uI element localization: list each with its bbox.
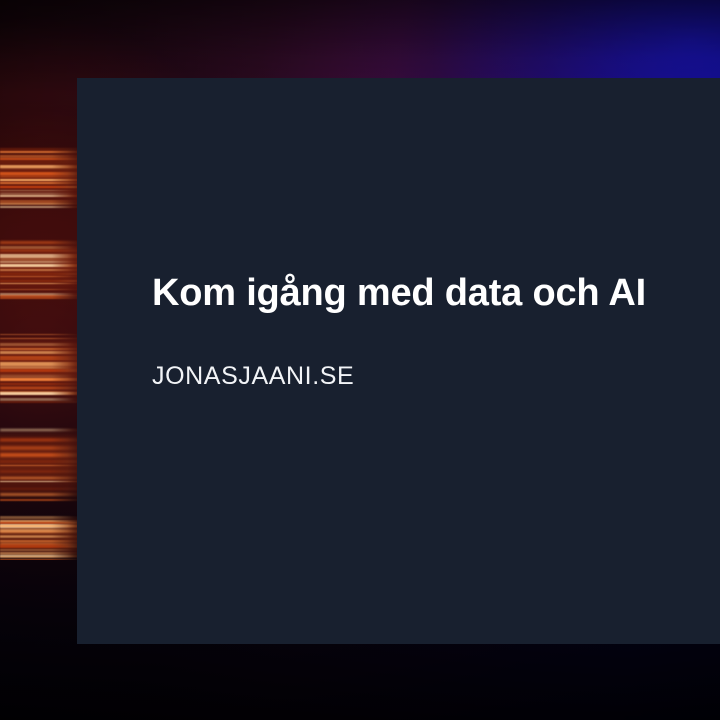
streak-line: [0, 264, 84, 267]
streak-line: [0, 338, 84, 339]
streak-line: [0, 536, 84, 537]
streak-line: [0, 392, 84, 395]
streak-line: [0, 383, 84, 385]
streak-line: [0, 200, 84, 204]
streak-line: [0, 522, 84, 524]
streak-line: [0, 186, 84, 188]
streak-line: [0, 359, 84, 360]
streak-line: [0, 499, 84, 501]
content-card: Kom igång med data och AI JONASJAANI.SE: [77, 78, 720, 644]
streak-line: [0, 254, 84, 258]
website-label: JONASJAANI.SE: [152, 363, 720, 391]
streak-line: [0, 481, 84, 482]
streak-line: [0, 387, 84, 389]
streak-line: [0, 206, 84, 208]
streak-band: [0, 516, 84, 560]
streak-line: [0, 542, 84, 546]
streak-band: [0, 146, 84, 208]
streak-line: [0, 429, 84, 431]
streak-line: [0, 356, 84, 359]
streak-line: [0, 293, 84, 296]
streak-line: [0, 351, 84, 354]
streak-line: [0, 369, 84, 372]
streak-line: [0, 269, 84, 271]
light-trail-streaks: [0, 120, 84, 560]
streak-line: [0, 280, 84, 282]
streak-line: [0, 348, 84, 350]
streak-line: [0, 477, 84, 479]
streak-line: [0, 378, 84, 381]
slide-canvas: Kom igång med data och AI JONASJAANI.SE: [0, 0, 720, 720]
streak-line: [0, 530, 84, 532]
streak-line: [0, 559, 84, 560]
streak-line: [0, 366, 84, 369]
streak-line: [0, 471, 84, 472]
streak-line: [0, 453, 84, 457]
streak-line: [0, 175, 84, 177]
streak-line: [0, 460, 84, 463]
streak-band: [0, 240, 84, 298]
streak-line: [0, 151, 84, 153]
streak-line: [0, 343, 84, 346]
streak-band: [0, 334, 84, 404]
streak-line: [0, 535, 84, 538]
streak-line: [0, 193, 84, 195]
streak-line: [0, 544, 84, 547]
streak-line: [0, 549, 84, 551]
streak-line: [0, 556, 84, 558]
streak-line: [0, 525, 84, 527]
page-title: Kom igång med data och AI: [152, 273, 720, 315]
streak-line: [0, 552, 84, 555]
streak-line: [0, 241, 84, 244]
streak-line: [0, 258, 84, 261]
streak-line: [0, 401, 84, 403]
streak-line: [0, 203, 84, 205]
streak-line: [0, 158, 84, 160]
streak-line: [0, 334, 84, 335]
streak-line: [0, 531, 84, 533]
streak-line: [0, 540, 84, 542]
streak-line: [0, 295, 84, 299]
streak-line: [0, 516, 84, 519]
streak-line: [0, 547, 84, 548]
streak-line: [0, 375, 84, 378]
streak-line: [0, 195, 84, 197]
streak-line: [0, 524, 84, 528]
streak-line: [0, 488, 84, 490]
streak-line: [0, 276, 84, 277]
streak-line: [0, 289, 84, 290]
streak-line: [0, 273, 84, 275]
streak-line: [0, 520, 84, 523]
streak-line: [0, 446, 84, 450]
streak-line: [0, 283, 84, 284]
streak-line: [0, 250, 84, 251]
streak-line: [0, 182, 84, 184]
streak-line: [0, 528, 84, 532]
streak-line: [0, 546, 84, 548]
streak-line: [0, 161, 84, 162]
streak-line: [0, 391, 84, 394]
streak-line: [0, 190, 84, 191]
streak-line: [0, 555, 84, 557]
streak-line: [0, 165, 84, 168]
streak-band: [0, 428, 84, 502]
streak-line: [0, 172, 84, 175]
streak-line: [0, 246, 84, 249]
streak-line: [0, 167, 84, 168]
streak-line: [0, 155, 84, 158]
streak-line: [0, 440, 84, 441]
streak-line: [0, 148, 84, 152]
streak-line: [0, 398, 84, 401]
streak-line: [0, 493, 84, 496]
streak-line: [0, 465, 84, 466]
streak-line: [0, 438, 84, 441]
streak-line: [0, 179, 84, 181]
streak-line: [0, 261, 84, 263]
streak-line: [0, 362, 84, 366]
